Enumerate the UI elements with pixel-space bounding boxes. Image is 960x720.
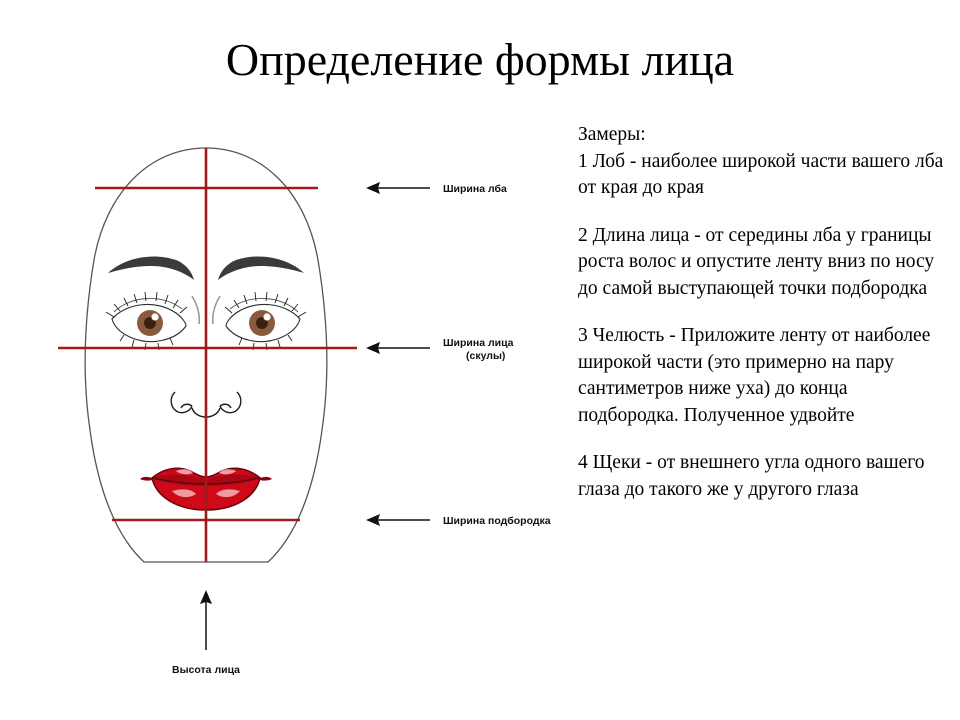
forehead-arrow-head bbox=[366, 182, 380, 194]
instruction-item-3: 3 Челюсть - Приложите ленту от наиболее … bbox=[578, 323, 952, 429]
chin-width-arrow-head bbox=[366, 514, 380, 526]
eye-left-highlight bbox=[151, 313, 158, 320]
instruction-item-1: 1 Лоб - наиболее широкой части вашего лб… bbox=[578, 149, 952, 202]
eye-right-highlight bbox=[263, 313, 270, 320]
face-height-arrow-head bbox=[200, 590, 212, 604]
face-diagram: Ширина лба Ширина лица (скулы) Ширина по… bbox=[0, 100, 570, 700]
face-width-label-sub: (скулы) bbox=[466, 350, 505, 362]
callout-face-width: Ширина лица (скулы) bbox=[366, 337, 514, 362]
callout-forehead-width: Ширина лба bbox=[366, 182, 507, 195]
callout-chin-width: Ширина подбородка bbox=[366, 514, 551, 527]
face-height-label: Высота лица bbox=[172, 664, 240, 676]
instructions-column: Замеры: 1 Лоб - наиболее широкой части в… bbox=[578, 122, 952, 503]
instruction-item-4: 4 Щеки - от внешнего угла одного вашего … bbox=[578, 450, 952, 503]
page-root: Определение формы лица bbox=[0, 0, 960, 720]
forehead-width-label: Ширина лба bbox=[443, 183, 507, 195]
chin-width-label: Ширина подбородка bbox=[443, 515, 551, 527]
face-width-arrow-head bbox=[366, 342, 380, 354]
page-title: Определение формы лица bbox=[0, 34, 960, 86]
face-width-label: Ширина лица bbox=[443, 337, 514, 349]
callout-face-height: Высота лица bbox=[172, 590, 240, 676]
instruction-item-2: 2 Длина лица - от середины лба у границы… bbox=[578, 223, 952, 303]
instructions-heading: Замеры: bbox=[578, 122, 952, 149]
